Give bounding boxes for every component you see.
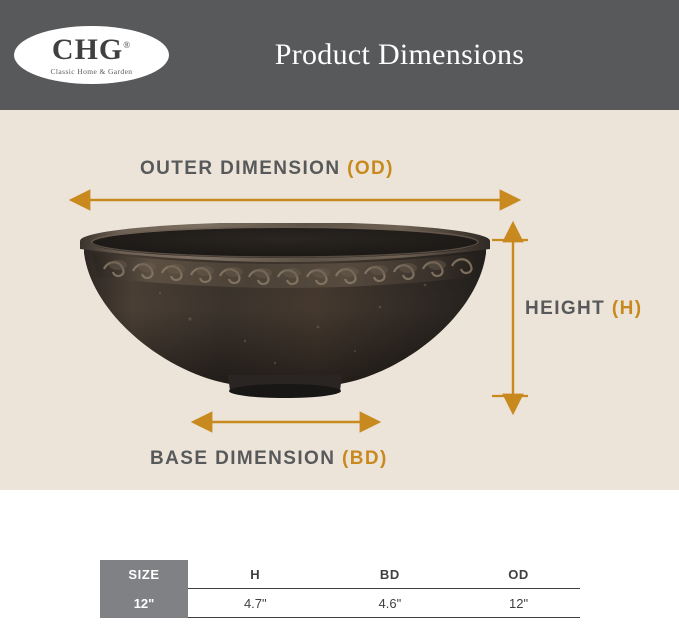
height-abbr: (H) [612, 298, 643, 319]
page-header: CHG® Classic Home & Garden Product Dimen… [0, 0, 679, 110]
height-text: HEIGHT [525, 298, 605, 319]
outer-dimension-abbr: (OD) [347, 158, 394, 179]
base-dimension-abbr: (BD) [342, 448, 388, 469]
dimensions-table-area: SIZE H BD OD 12" 4.7" 4.6" 12" [0, 490, 679, 636]
base-dimension-label: BASE DIMENSION (BD) [150, 448, 388, 470]
cell-h: 4.7" [188, 589, 323, 618]
dimensions-table: SIZE H BD OD 12" 4.7" 4.6" 12" [100, 560, 580, 618]
bowl-svg [70, 223, 500, 403]
table-row: 12" 4.7" 4.6" 12" [100, 589, 580, 618]
base-dimension-text: BASE DIMENSION [150, 448, 335, 469]
column-header-od: OD [457, 560, 580, 589]
cell-bd: 4.6" [323, 589, 458, 618]
cell-size: 12" [100, 589, 188, 618]
height-label: HEIGHT (H) [525, 298, 642, 320]
column-header-bd: BD [323, 560, 458, 589]
column-header-size: SIZE [100, 560, 188, 589]
dimensions-diagram: OUTER DIMENSION (OD) BASE DIMENSION (BD)… [0, 110, 679, 490]
product-illustration [70, 223, 500, 403]
outer-dimension-label: OUTER DIMENSION (OD) [140, 158, 394, 180]
cell-od: 12" [457, 589, 580, 618]
page-title: Product Dimensions [0, 0, 679, 110]
table-header-row: SIZE H BD OD [100, 560, 580, 589]
outer-dimension-text: OUTER DIMENSION [140, 158, 340, 179]
column-header-h: H [188, 560, 323, 589]
